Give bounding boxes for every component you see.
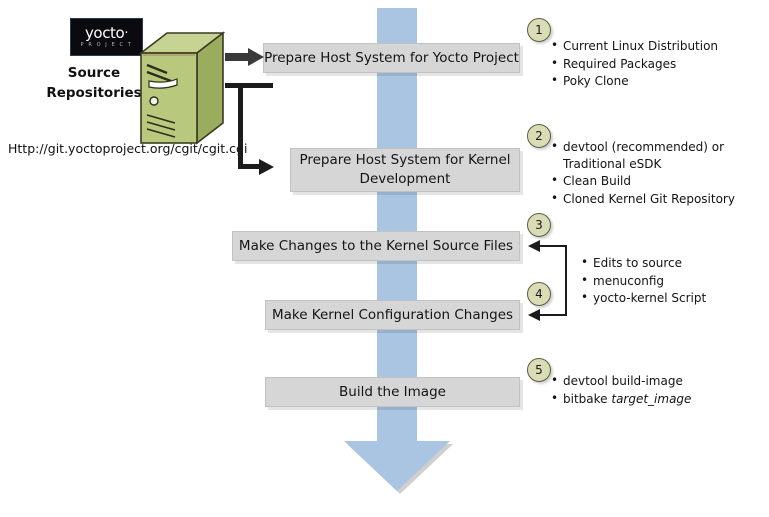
note-item-text: devtool (recommended) or Traditional eSD… <box>563 140 724 171</box>
step-badge-4: 4 <box>527 282 551 306</box>
step-5-notes-list: devtool build-imagebitbake target_image <box>551 373 765 407</box>
note-item-text: Edits to source <box>593 256 682 270</box>
step-1-notes: Current Linux DistributionRequired Packa… <box>551 38 765 91</box>
step-box-1[interactable]: Prepare Host System for Yocto Project <box>263 43 520 73</box>
note-item: devtool build-image <box>551 373 765 390</box>
connector-bracket-vertical <box>565 246 567 316</box>
step-1-notes-list: Current Linux DistributionRequired Packa… <box>551 38 765 90</box>
step-2-notes-list: devtool (recommended) or Traditional eSD… <box>551 139 765 207</box>
step-box-5-label: Build the Image <box>339 383 446 402</box>
note-item-emphasis: target_image <box>611 392 691 406</box>
note-item-text: Cloned Kernel Git Repository <box>563 192 735 206</box>
note-item-text: Poky Clone <box>563 74 629 88</box>
connector-source-to-step2-h1 <box>225 83 273 88</box>
yocto-logo-text: yocto <box>85 24 124 42</box>
note-item: Required Packages <box>551 56 765 73</box>
flow-arrow-down-icon <box>344 441 450 491</box>
note-item: Cloned Kernel Git Repository <box>551 191 765 208</box>
steps-3-4-shared-notes: Edits to sourcemenuconfigyocto-kernel Sc… <box>581 255 761 308</box>
step-box-4[interactable]: Make Kernel Configuration Changes <box>265 300 520 330</box>
step-box-3[interactable]: Make Changes to the Kernel Source Files <box>232 231 520 261</box>
step-5-notes: devtool build-imagebitbake target_image <box>551 373 765 408</box>
note-item-text: yocto-kernel Script <box>593 291 706 305</box>
arrow-head-step4-icon <box>528 309 540 321</box>
step-box-2[interactable]: Prepare Host System for Kernel Developme… <box>290 148 520 192</box>
arrow-head-step2-icon <box>259 159 274 175</box>
note-item-text: Current Linux Distribution <box>563 39 718 53</box>
source-label-line-2: Repositories <box>34 83 154 103</box>
source-label-line-1: Source <box>34 63 154 83</box>
note-item: Edits to source <box>581 255 761 272</box>
note-item: yocto-kernel Script <box>581 290 761 307</box>
step-box-4-label: Make Kernel Configuration Changes <box>272 306 513 325</box>
diagram-canvas: yocto· P R O J E C T Source Repositories… <box>0 0 769 517</box>
note-item-text: Clean Build <box>563 174 631 188</box>
step-badge-2: 2 <box>527 124 551 148</box>
yocto-project-logo: yocto· P R O J E C T <box>70 18 143 56</box>
connector-source-to-step1 <box>225 53 250 61</box>
yocto-logo-subtitle: P R O J E C T <box>81 42 133 49</box>
step-badge-4-number: 4 <box>535 287 543 301</box>
step-2-notes: devtool (recommended) or Traditional eSD… <box>551 139 765 208</box>
note-item-text: menuconfig <box>593 274 664 288</box>
connector-source-to-step2-v <box>238 83 243 168</box>
step-badge-1: 1 <box>527 18 551 42</box>
step-badge-5: 5 <box>527 358 551 382</box>
yocto-logo-dot: · <box>124 26 128 41</box>
note-item: Current Linux Distribution <box>551 38 765 55</box>
step-badge-2-number: 2 <box>535 129 543 143</box>
step-badge-3: 3 <box>527 213 551 237</box>
note-item: menuconfig <box>581 273 761 290</box>
steps-3-4-notes-list: Edits to sourcemenuconfigyocto-kernel Sc… <box>581 255 761 307</box>
note-item: Clean Build <box>551 173 765 190</box>
server-tower-icon <box>137 31 225 149</box>
step-badge-5-number: 5 <box>535 363 543 377</box>
note-item: bitbake target_image <box>551 391 765 408</box>
arrow-head-step1-icon <box>248 48 264 66</box>
step-badge-3-number: 3 <box>535 218 543 232</box>
note-item: Poky Clone <box>551 73 765 90</box>
note-item-text: Required Packages <box>563 57 676 71</box>
yocto-logo-word: yocto· <box>85 26 128 41</box>
arrow-head-step3-icon <box>528 240 540 252</box>
step-box-1-label: Prepare Host System for Yocto Project <box>264 49 519 68</box>
note-item-text: bitbake <box>563 392 611 406</box>
connector-bracket-to-step3 <box>537 245 567 247</box>
note-item: devtool (recommended) or Traditional eSD… <box>551 139 765 172</box>
source-repositories-label: Source Repositories <box>34 63 154 103</box>
step-badge-1-number: 1 <box>535 23 543 37</box>
note-item-text: devtool build-image <box>563 374 683 388</box>
step-box-3-label: Make Changes to the Kernel Source Files <box>239 237 513 256</box>
step-box-2-label: Prepare Host System for Kernel Developme… <box>291 151 519 189</box>
step-box-5[interactable]: Build the Image <box>265 377 520 407</box>
connector-bracket-to-step4 <box>537 314 567 316</box>
